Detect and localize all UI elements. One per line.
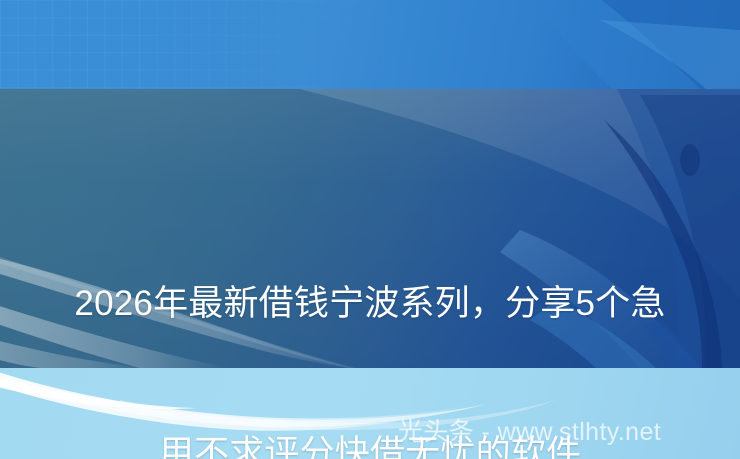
top-band-shapes [470,0,740,89]
title-line-1: 2026年最新借钱宁波系列，分享5个急 [0,279,740,329]
promo-banner: 2026年最新借钱宁波系列，分享5个急 用不求评分快借无忧的软件 光头条 - w… [0,0,740,459]
site-watermark: 光头条 - www.stlhty.net [398,417,661,447]
